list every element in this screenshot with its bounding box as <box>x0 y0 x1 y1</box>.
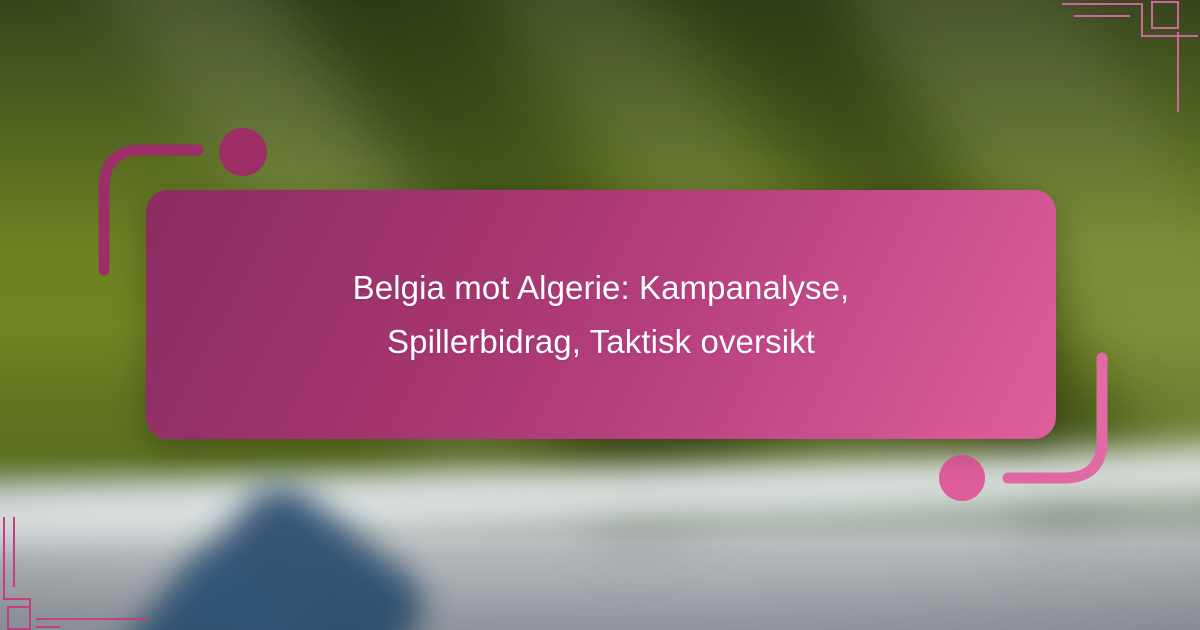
page-title: Belgia mot Algerie: Kampanalyse, Spiller… <box>301 261 901 368</box>
social-card-canvas: Belgia mot Algerie: Kampanalyse, Spiller… <box>0 0 1200 630</box>
title-card: Belgia mot Algerie: Kampanalyse, Spiller… <box>146 190 1056 439</box>
